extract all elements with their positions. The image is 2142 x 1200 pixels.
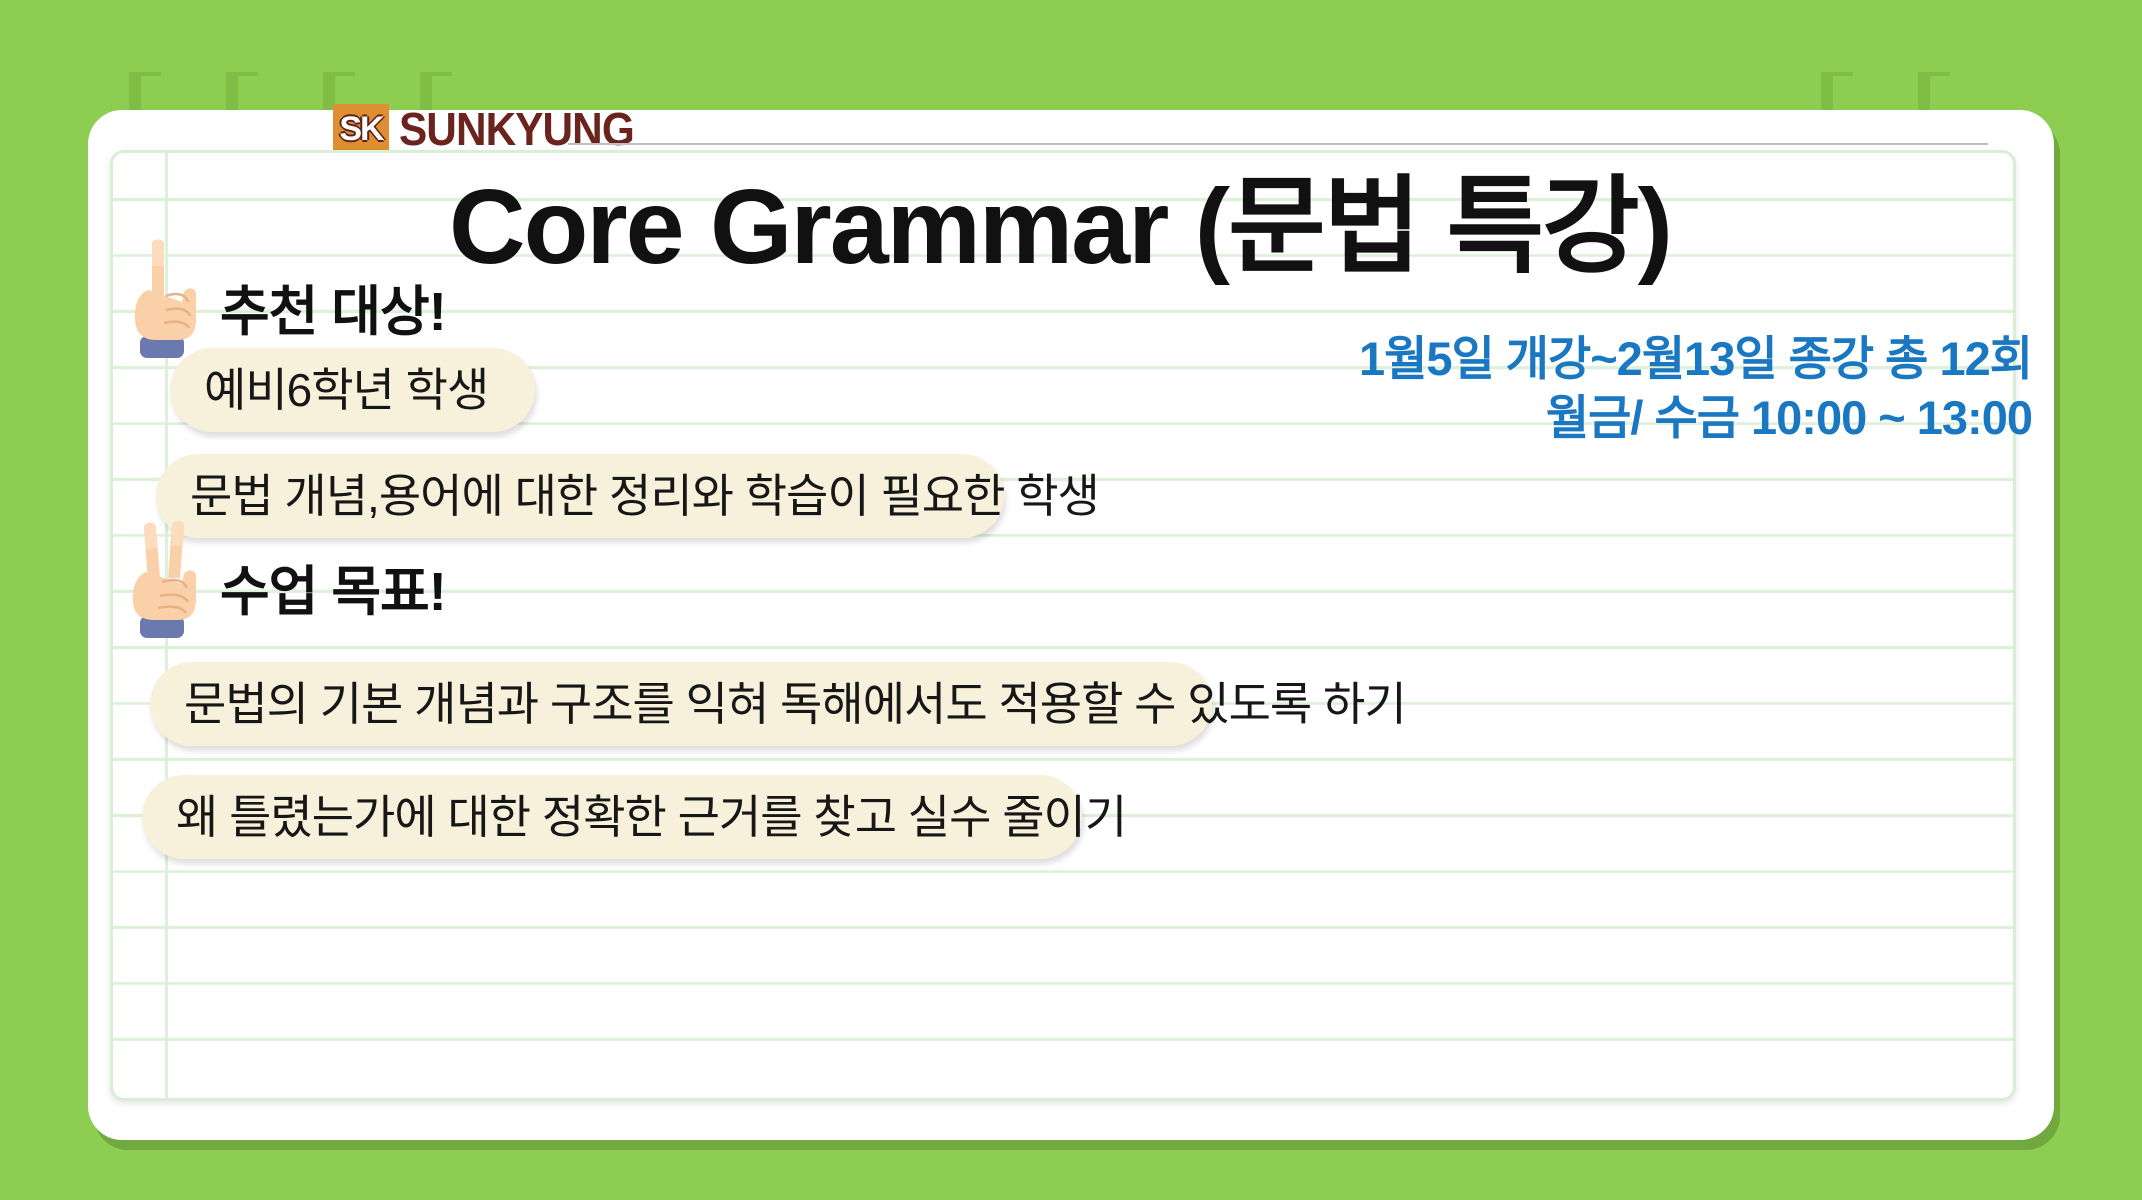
pointing-up-hand-icon [126,230,204,360]
brand-name: SUNKYUNG [399,106,634,152]
schedule-line-2: 월금/ 수금 10:00 ~ 13:00 [1359,389,2032,446]
victory-hand-icon [126,510,204,640]
notebook-card: SK SUNKYUNG Core Grammar (문법 특강) 1월5일 개강… [88,110,2054,1140]
list-item: 왜 틀렸는가에 대한 정확한 근거를 찾고 실수 줄이기 [142,775,1082,859]
list-item-text: 문법의 기본 개념과 구조를 익혀 독해에서도 적용할 수 있도록 하기 [184,681,1406,727]
header-divider [568,143,1988,145]
sk-logo-icon: SK [333,104,389,154]
poster-canvas: SK SUNKYUNG Core Grammar (문법 특강) 1월5일 개강… [0,0,2142,1200]
list-item: 예비6학년 학생 [170,348,535,432]
schedule-line-1: 1월5일 개강~2월13일 종강 총 12회 [1359,330,2032,387]
list-item-text: 예비6학년 학생 [204,367,488,413]
section-heading-label: 수업 목표! [220,547,446,640]
section-heading-label: 추천 대상! [220,267,446,360]
schedule-block: 1월5일 개강~2월13일 종강 총 12회 월금/ 수금 10:00 ~ 13… [1359,330,2032,449]
section-heading-goals: 수업 목표! [126,510,446,640]
list-item: 문법의 기본 개념과 구조를 익혀 독해에서도 적용할 수 있도록 하기 [150,662,1212,746]
list-item-text: 왜 틀렸는가에 대한 정확한 근거를 찾고 실수 줄이기 [176,794,1126,840]
sk-logo-text: SK [339,112,382,146]
section-heading-recommended: 추천 대상! [126,230,446,360]
